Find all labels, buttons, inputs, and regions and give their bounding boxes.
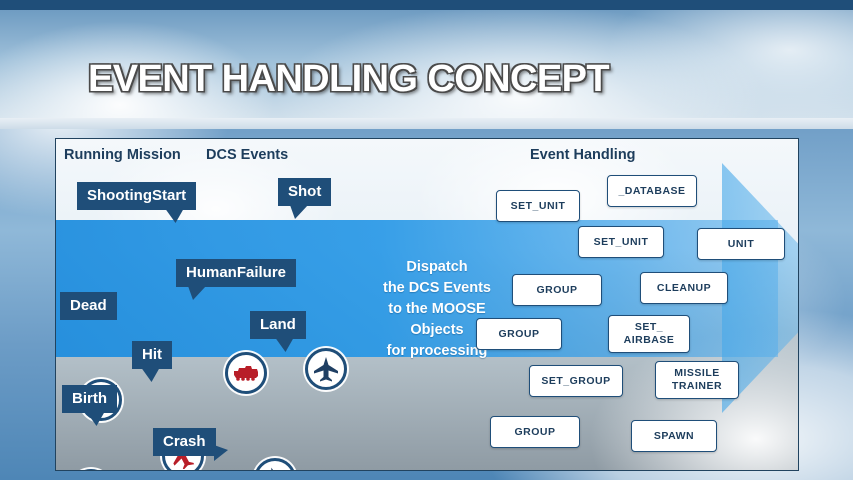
moose-object-group-3[interactable]: GROUP — [490, 416, 580, 448]
moose-object-group-1[interactable]: GROUP — [512, 274, 602, 306]
header-divider — [0, 118, 853, 129]
section-title-dcs-events: DCS Events — [206, 147, 288, 163]
callout-tail-icon — [290, 205, 308, 219]
moose-object-label: UNIT — [728, 238, 755, 251]
event-label-shot[interactable]: Shot — [278, 178, 331, 206]
top-accent-rule — [0, 0, 853, 10]
event-label-birth[interactable]: Birth — [62, 385, 117, 413]
moose-object-database[interactable]: _DATABASE — [607, 175, 697, 207]
moose-object-label: SET_GROUP — [541, 375, 610, 388]
moose-object-set-unit-1[interactable]: SET_UNIT — [496, 190, 580, 222]
event-icon-shootingstart — [225, 352, 267, 394]
ground-vehicle-red-icon — [232, 363, 260, 383]
event-label-text: Land — [260, 316, 296, 333]
header-banner: EVENT HANDLING CONCEPT — [0, 10, 853, 118]
event-label-land[interactable]: Land — [250, 311, 306, 339]
moose-object-group-2[interactable]: GROUP — [476, 318, 562, 350]
moose-object-label: GROUP — [498, 328, 539, 341]
event-icon-land — [254, 458, 296, 471]
event-label-text: Shot — [288, 183, 321, 200]
moose-object-missile-trainer[interactable]: MISSILE TRAINER — [655, 361, 739, 399]
moose-object-label: GROUP — [514, 426, 555, 439]
event-icon-shot — [305, 348, 347, 390]
event-label-text: HumanFailure — [186, 264, 286, 281]
moose-object-label: SET_ AIRBASE — [624, 321, 675, 347]
moose-object-set-group[interactable]: SET_GROUP — [529, 365, 623, 397]
moose-object-spawn[interactable]: SPAWN — [631, 420, 717, 452]
callout-tail-icon — [272, 338, 293, 352]
section-title-event-handling: Event Handling — [530, 147, 636, 163]
event-label-text: Dead — [70, 297, 107, 314]
moose-object-set-airbase[interactable]: SET_ AIRBASE — [608, 315, 690, 353]
event-label-text: Hit — [142, 346, 162, 363]
moose-object-unit[interactable]: UNIT — [697, 228, 785, 260]
moose-object-label: CLEANUP — [657, 282, 711, 295]
event-label-crash[interactable]: Crash — [153, 428, 216, 456]
event-label-shootingstart[interactable]: ShootingStart — [77, 182, 196, 210]
moose-object-label: SPAWN — [654, 430, 694, 443]
jet-navy-icon — [313, 356, 339, 382]
moose-object-label: _DATABASE — [618, 185, 685, 198]
extra-icon-ground-red-1 — [70, 469, 112, 471]
page-title: EVENT HANDLING CONCEPT — [88, 58, 609, 101]
callout-tail-icon — [84, 412, 105, 426]
moose-object-label: SET_UNIT — [511, 200, 566, 213]
event-label-hit[interactable]: Hit — [132, 341, 172, 369]
content-panel: Dispatch the DCS Events to the MOOSE Obj… — [55, 138, 799, 471]
event-label-text: Birth — [72, 390, 107, 407]
moose-object-set-unit-2[interactable]: SET_UNIT — [578, 226, 664, 258]
moose-object-label: SET_UNIT — [594, 236, 649, 249]
event-label-text: Crash — [163, 433, 206, 450]
jet-navy-icon — [262, 466, 288, 471]
callout-tail-icon — [139, 368, 160, 382]
moose-object-label: MISSILE TRAINER — [672, 367, 722, 393]
event-label-text: ShootingStart — [87, 187, 186, 204]
callout-tail-icon — [188, 286, 206, 300]
callout-tail-icon — [214, 445, 228, 461]
event-label-humanfailure[interactable]: HumanFailure — [176, 259, 296, 287]
moose-object-cleanup[interactable]: CLEANUP — [640, 272, 728, 304]
callout-tail-icon — [163, 209, 184, 223]
event-label-dead[interactable]: Dead — [60, 292, 117, 320]
moose-object-label: GROUP — [536, 284, 577, 297]
section-title-running-mission: Running Mission — [64, 147, 181, 163]
